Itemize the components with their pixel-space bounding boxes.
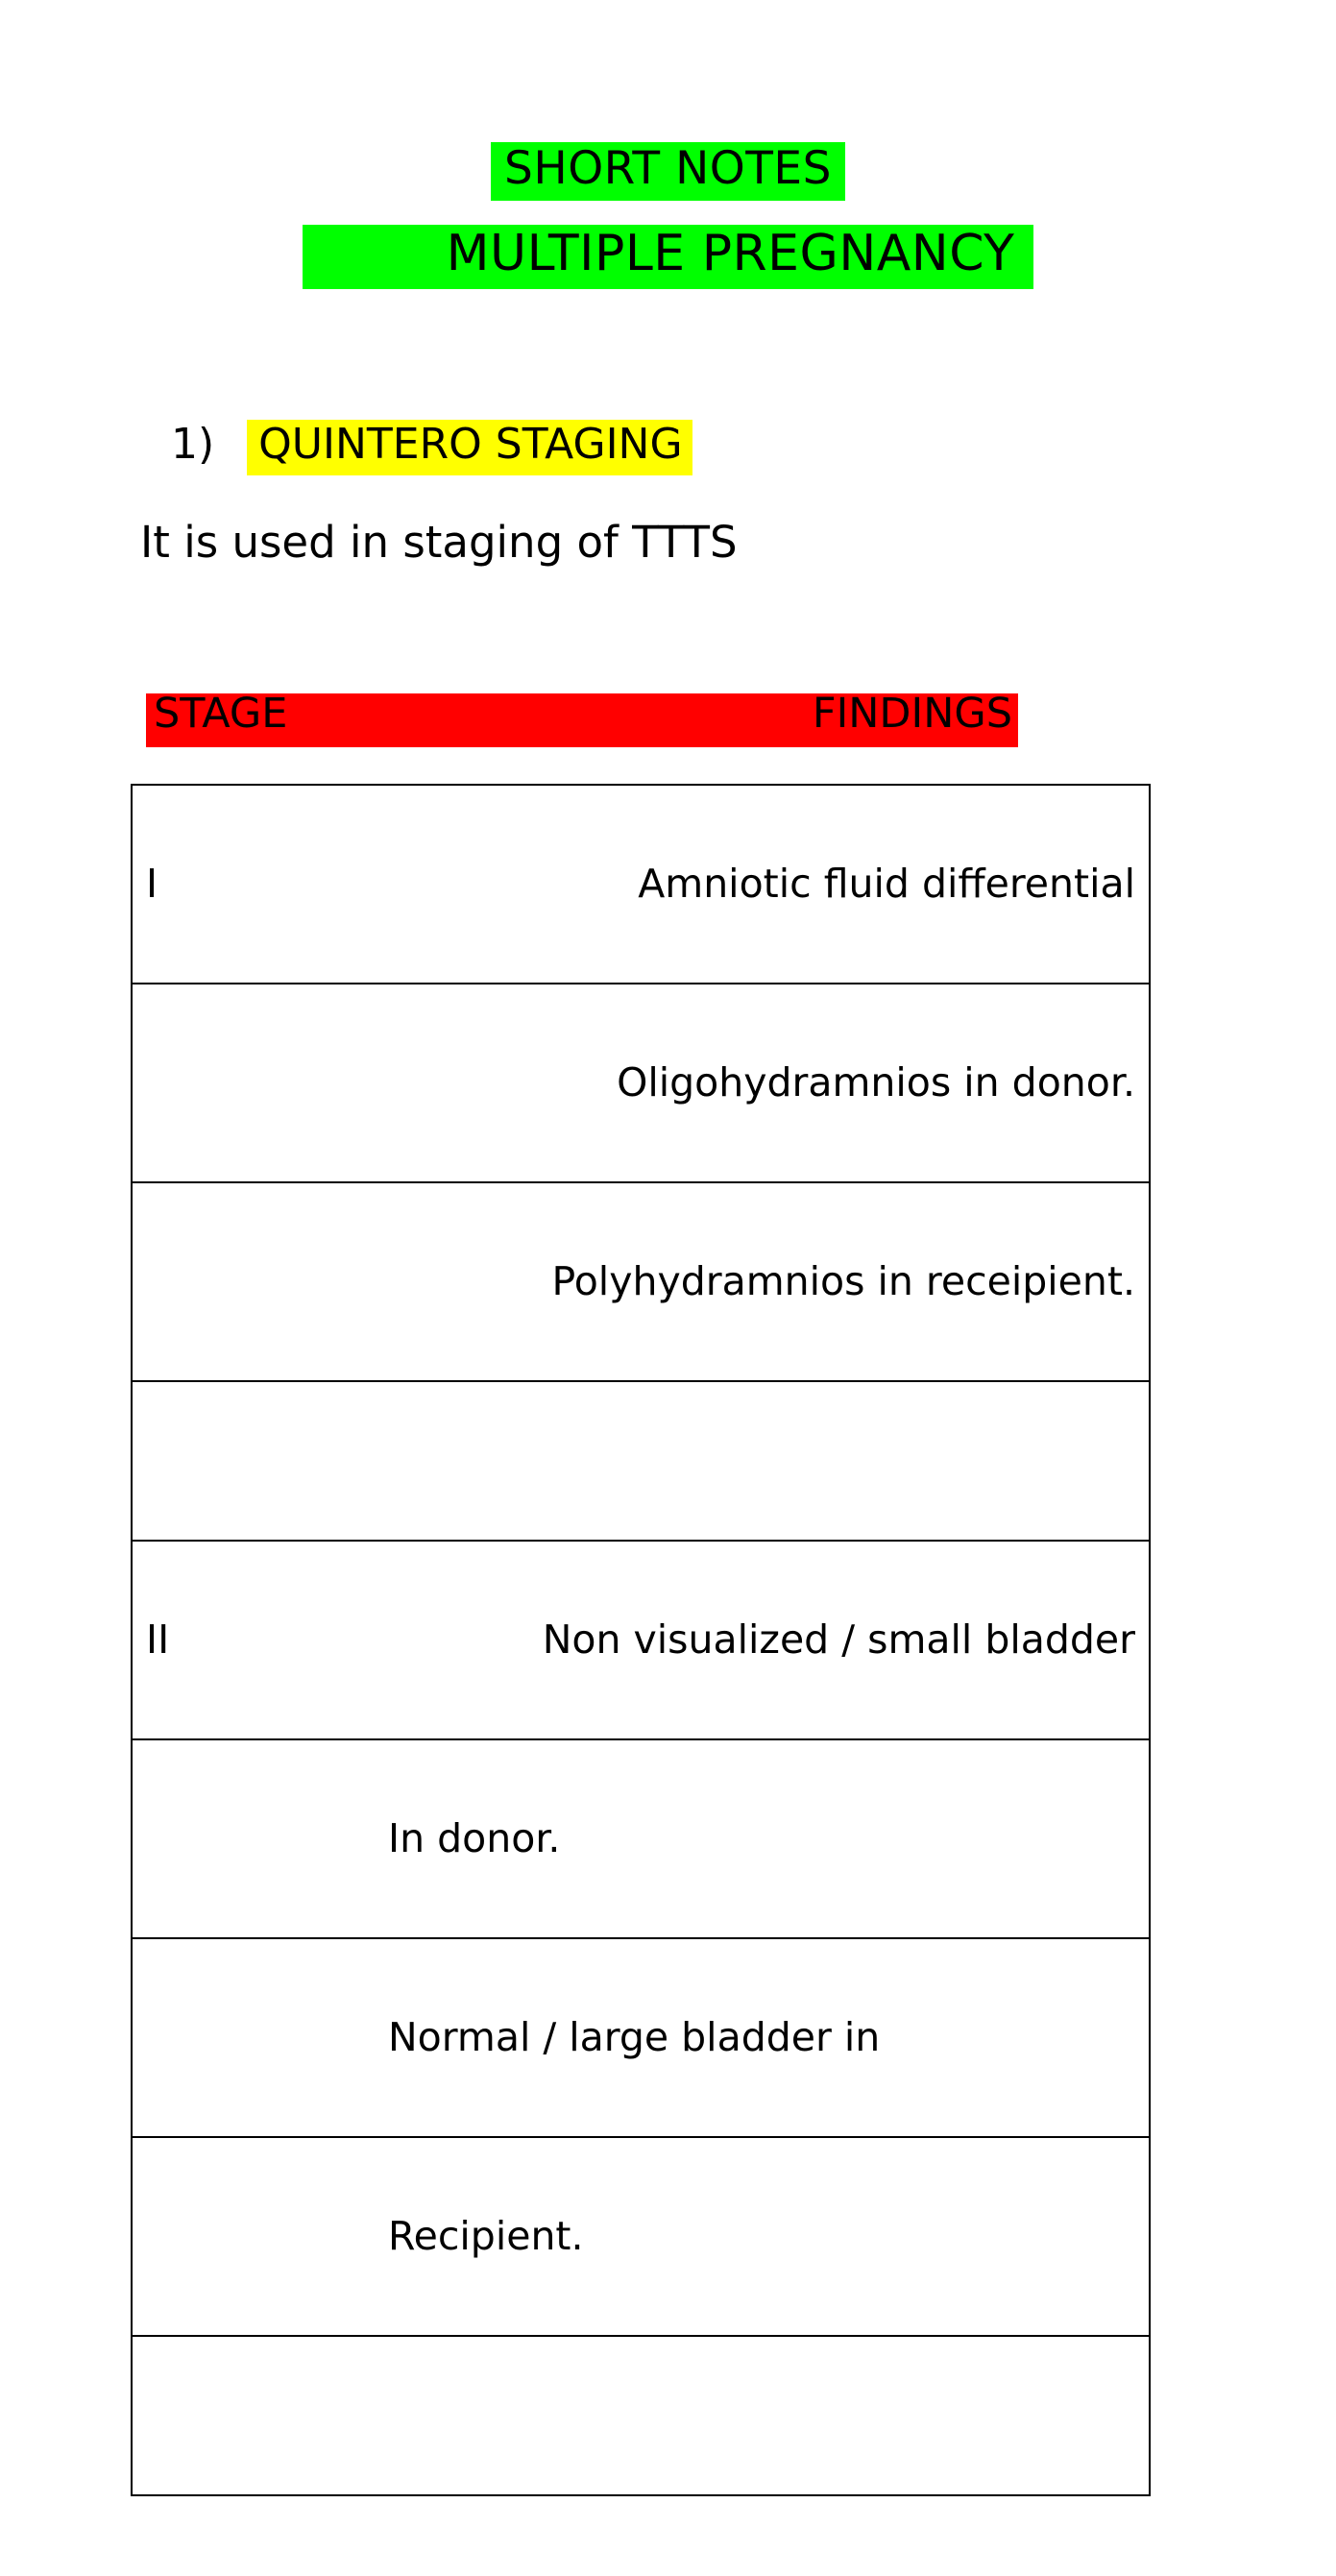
cell-stage [132,1182,388,1381]
cell-findings: Recipient. [388,2137,1150,2336]
cell-stage [132,984,388,1182]
cell-findings: In donor. [388,1739,1150,1938]
secondary-heading-row: MULTIPLE PREGNANCY [0,225,1336,289]
quintero-staging-table: I Amniotic fluid differential Oligohydra… [131,784,1151,2496]
document-page: SHORT NOTES MULTIPLE PREGNANCY 1) QUINTE… [0,0,1336,1729]
column-header-stage: STAGE [154,690,287,738]
item-number: 1) [171,424,247,466]
numbered-item: 1) QUINTERO STAGING [171,420,692,475]
item-title: QUINTERO STAGING [247,420,692,475]
cell-stage [132,2336,388,2495]
table-row: In donor. [132,1739,1150,1938]
item-description: It is used in staging of TTTS [140,517,738,568]
cell-findings-text: Normal / large bladder in [388,1939,1135,2136]
cell-stage [132,1938,388,2137]
cell-stage [132,1381,388,1541]
cell-findings [388,2336,1150,2495]
primary-heading-row: SHORT NOTES [0,142,1336,201]
cell-stage [132,1739,388,1938]
cell-findings-text: Recipient. [388,2138,1135,2335]
table-row [132,2336,1150,2495]
table-body: I Amniotic fluid differential Oligohydra… [132,785,1150,2495]
cell-stage: I [132,785,388,984]
table-row: Recipient. [132,2137,1150,2336]
cell-findings: Normal / large bladder in [388,1938,1150,2137]
cell-stage [132,2137,388,2336]
cell-findings-text: In donor. [388,1740,1135,1937]
primary-heading: SHORT NOTES [491,142,845,201]
cell-findings-text [388,2337,1135,2494]
secondary-heading: MULTIPLE PREGNANCY [303,225,1034,289]
cell-stage: II [132,1541,388,1739]
table-row: Normal / large bladder in [132,1938,1150,2137]
